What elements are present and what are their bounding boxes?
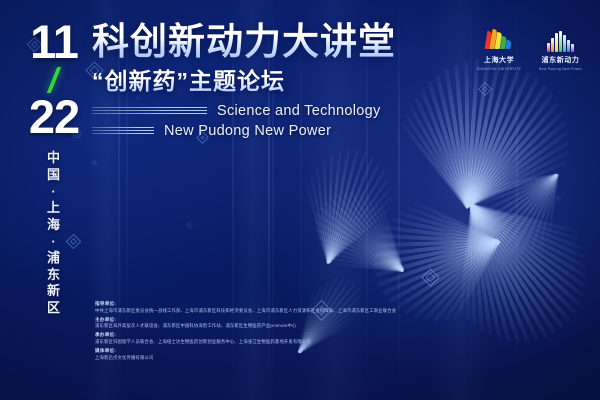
credit-value: 浦东新区海外高层次人才联谊会、浦东新区中国科协海智工作站、浦东新区生物医药产业p… (95, 323, 396, 330)
dot-icon (556, 196, 561, 201)
credit-value: 上海新启点文化传播有限公司 (95, 355, 396, 362)
location-char: 区 (26, 300, 82, 317)
english-title-line-1: Science and Technology (217, 103, 381, 119)
dot-icon (186, 222, 193, 229)
location-char: 新 (26, 283, 82, 300)
decorative-line-icon (92, 127, 154, 136)
credit-row: 指导单位:中共上海市浦东新区委员会统一战线工作部、上海市浦东新区科技和经济委员会… (95, 301, 396, 315)
english-title-line-2: New Pudong New Power (164, 123, 331, 139)
date-location-column: 11 22 中国·上海·浦东新区 (26, 20, 82, 317)
new-pudong-new-power-logo[interactable]: 浦东新动力New Pudong New Power (537, 30, 584, 71)
dot-icon (92, 160, 97, 165)
credit-label: 指导单位: (95, 301, 396, 308)
credit-value: 浦东新区归国留学人员联合会、上海纽士达生物医药创新创业服务中心、上海张江生物医药… (95, 339, 396, 346)
credit-row: 承办单位:浦东新区归国留学人员联合会、上海纽士达生物医药创新创业服务中心、上海张… (95, 332, 396, 346)
sail-icon (475, 30, 523, 52)
headline-block: 科创新动力大讲堂 “创新药”主题论坛 Science and Technolog… (92, 22, 396, 139)
logo-name-cn: 上海大学 (475, 55, 523, 65)
event-poster: 11 22 中国·上海·浦东新区 科创新动力大讲堂 “创新药”主题论坛 Scie… (0, 0, 600, 400)
location-char: 东 (26, 267, 82, 284)
skyline-bars-icon (537, 30, 584, 52)
location-char: 中 (26, 150, 82, 167)
decorative-line-icon (92, 107, 207, 116)
location-char: · (26, 184, 82, 201)
sponsor-logos: 上海大学SHANGHAI UNIVERSITY浦东新动力New Pudong N… (475, 30, 584, 71)
page-title: 科创新动力大讲堂 (92, 22, 396, 62)
credit-label: 媒体单位: (95, 348, 396, 355)
location-char: 海 (26, 217, 82, 234)
location-char: 浦 (26, 250, 82, 267)
date-month: 11 (26, 20, 82, 63)
logo-name-cn: 浦东新动力 (537, 55, 584, 65)
logo-name-en: New Pudong New Power (539, 67, 582, 71)
page-subtitle: “创新药”主题论坛 (92, 69, 396, 94)
credit-row: 主办单位:浦东新区海外高层次人才联谊会、浦东新区中国科协海智工作站、浦东新区生物… (95, 317, 396, 331)
logo-name-en: SHANGHAI UNIVERSITY (477, 67, 521, 71)
shanghai-university-logo[interactable]: 上海大学SHANGHAI UNIVERSITY (475, 30, 523, 71)
credit-value: 中共上海市浦东新区委员会统一战线工作部、上海市浦东新区科技和经济委员会、上海市浦… (95, 308, 396, 315)
credit-row: 媒体单位:上海新启点文化传播有限公司 (95, 348, 396, 362)
light-streak (398, 0, 400, 400)
date-day: 22 (26, 95, 82, 138)
organizer-credits: 指导单位:中共上海市浦东新区委员会统一战线工作部、上海市浦东新区科技和经济委员会… (95, 301, 396, 363)
location-char: · (26, 234, 82, 251)
credit-label: 承办单位: (95, 332, 396, 339)
location-char: 上 (26, 200, 82, 217)
english-title-row-1: Science and Technology (92, 103, 396, 119)
location-vertical-text: 中国·上海·浦东新区 (26, 150, 82, 316)
location-char: 国 (26, 167, 82, 184)
english-title-row-2: New Pudong New Power (92, 123, 396, 139)
